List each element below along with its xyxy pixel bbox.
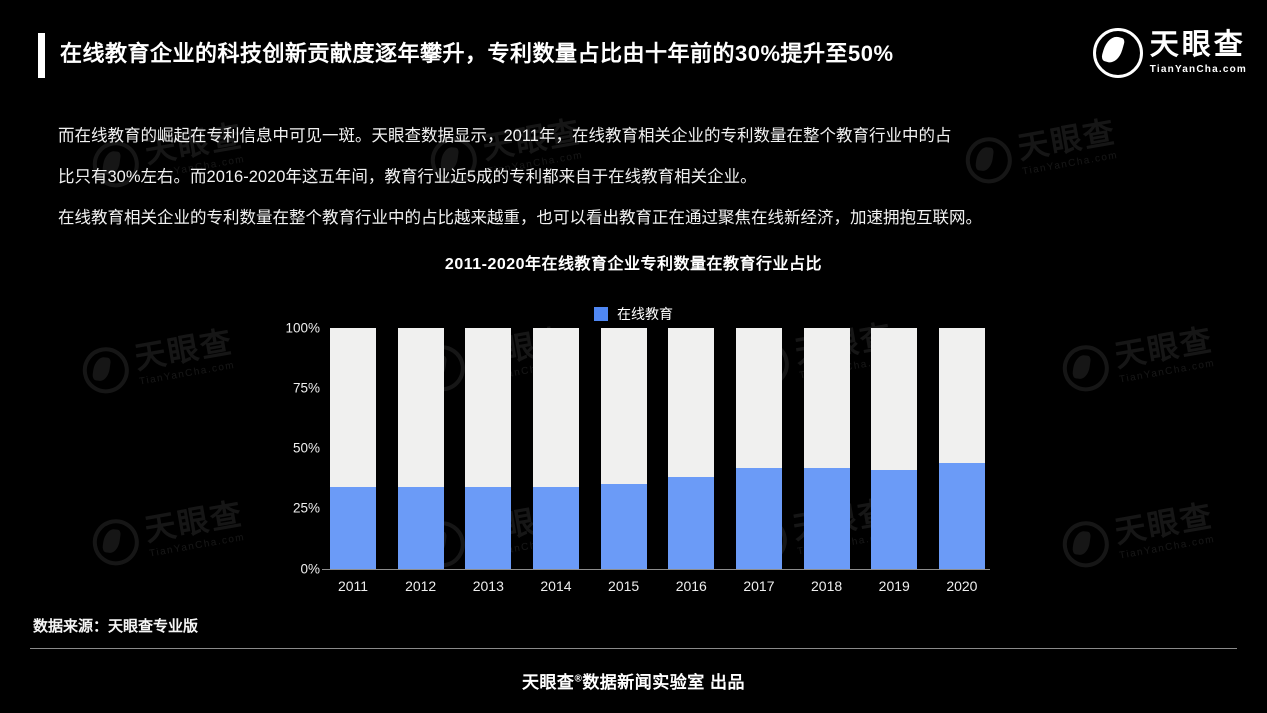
- bar-value-segment: [871, 470, 917, 569]
- bar-value-segment: [668, 477, 714, 568]
- x-axis-labels: 2011201220132014201520162017201820192020: [330, 578, 985, 594]
- bar-remainder-segment: [871, 328, 917, 470]
- y-axis: 0%25%50%75%100%: [275, 250, 320, 610]
- body-paragraph: 比只有30%左右。而2016-2020年这五年间，教育行业近5成的专利都来自于在…: [58, 157, 1223, 198]
- y-axis-tick: 100%: [285, 321, 320, 336]
- body-paragraph: 在线教育相关企业的专利数量在整个教育行业中的占比越来越重，也可以看出教育正在通过…: [58, 198, 1223, 239]
- bar-column[interactable]: [330, 328, 376, 569]
- bar-value-segment: [465, 487, 511, 569]
- x-axis-tick: 2017: [736, 578, 782, 594]
- x-axis-tick: 2015: [601, 578, 647, 594]
- bar-column[interactable]: [736, 328, 782, 569]
- bar-column[interactable]: [871, 328, 917, 569]
- brand-domain: TianYanCha.com: [1150, 65, 1247, 75]
- bar-remainder-segment: [804, 328, 850, 467]
- made-by-note: 天眼查®数据新闻实验室 出品: [0, 668, 1267, 693]
- chart-container: 2011-2020年在线教育企业专利数量在教育行业占比 在线教育 0%25%50…: [0, 250, 1267, 610]
- bar-column[interactable]: [398, 328, 444, 569]
- x-axis-tick: 2019: [871, 578, 917, 594]
- page-title: 在线教育企业的科技创新贡献度逐年攀升，专利数量占比由十年前的30%提升至50%: [60, 36, 894, 68]
- x-axis-tick: 2011: [330, 578, 376, 594]
- bar-column[interactable]: [601, 328, 647, 569]
- x-axis-tick: 2016: [668, 578, 714, 594]
- bar-value-segment: [330, 487, 376, 569]
- bar-remainder-segment: [939, 328, 985, 463]
- x-axis-tick: 2013: [465, 578, 511, 594]
- brand-name-cn: 天眼查: [1150, 31, 1247, 60]
- bar-remainder-segment: [330, 328, 376, 487]
- bar-remainder-segment: [668, 328, 714, 477]
- made-by-suffix: 数据新闻实验室 出品: [582, 673, 745, 692]
- x-axis-tick: 2020: [939, 578, 985, 594]
- bar-column[interactable]: [939, 328, 985, 569]
- source-note: 数据来源：天眼查专业版: [33, 615, 198, 636]
- bar-remainder-segment: [465, 328, 511, 487]
- brand-logo: 天眼查 TianYanCha.com: [1093, 28, 1247, 78]
- bar-value-segment: [398, 487, 444, 569]
- bar-value-segment: [533, 487, 579, 569]
- header-accent-bar: [38, 33, 45, 78]
- bar-column[interactable]: [668, 328, 714, 569]
- bar-value-segment: [939, 463, 985, 569]
- bar-value-segment: [601, 484, 647, 568]
- bar-column[interactable]: [804, 328, 850, 569]
- y-axis-tick: 50%: [293, 441, 320, 456]
- y-axis-tick: 75%: [293, 381, 320, 396]
- bar-value-segment: [736, 468, 782, 569]
- body-paragraph: 而在线教育的崛起在专利信息中可见一斑。天眼查数据显示，2011年，在线教育相关企…: [58, 116, 1223, 157]
- bar-remainder-segment: [601, 328, 647, 484]
- tianyancha-eye-icon: [1093, 28, 1143, 78]
- page-header: 在线教育企业的科技创新贡献度逐年攀升，专利数量占比由十年前的30%提升至50% …: [0, 0, 1267, 96]
- bar-column[interactable]: [465, 328, 511, 569]
- bar-series: [330, 328, 985, 569]
- infographic-page: 天眼查TianYanCha.com 天眼查TianYanCha.com 天眼查T…: [0, 0, 1267, 713]
- bar-column[interactable]: [533, 328, 579, 569]
- x-axis-tick: 2014: [533, 578, 579, 594]
- footer-divider: [30, 648, 1237, 649]
- bar-remainder-segment: [398, 328, 444, 487]
- x-axis-line: [322, 569, 990, 571]
- y-axis-tick: 0%: [300, 561, 320, 576]
- bar-value-segment: [804, 468, 850, 569]
- chart-plot-area: 0%25%50%75%100% 201120122013201420152016…: [0, 250, 1267, 610]
- bar-remainder-segment: [736, 328, 782, 467]
- bar-remainder-segment: [533, 328, 579, 487]
- x-axis-tick: 2012: [398, 578, 444, 594]
- body-copy: 而在线教育的崛起在专利信息中可见一斑。天眼查数据显示，2011年，在线教育相关企…: [58, 116, 1223, 239]
- y-axis-tick: 25%: [293, 501, 320, 516]
- x-axis-tick: 2018: [804, 578, 850, 594]
- made-by-prefix: 天眼查: [522, 673, 575, 692]
